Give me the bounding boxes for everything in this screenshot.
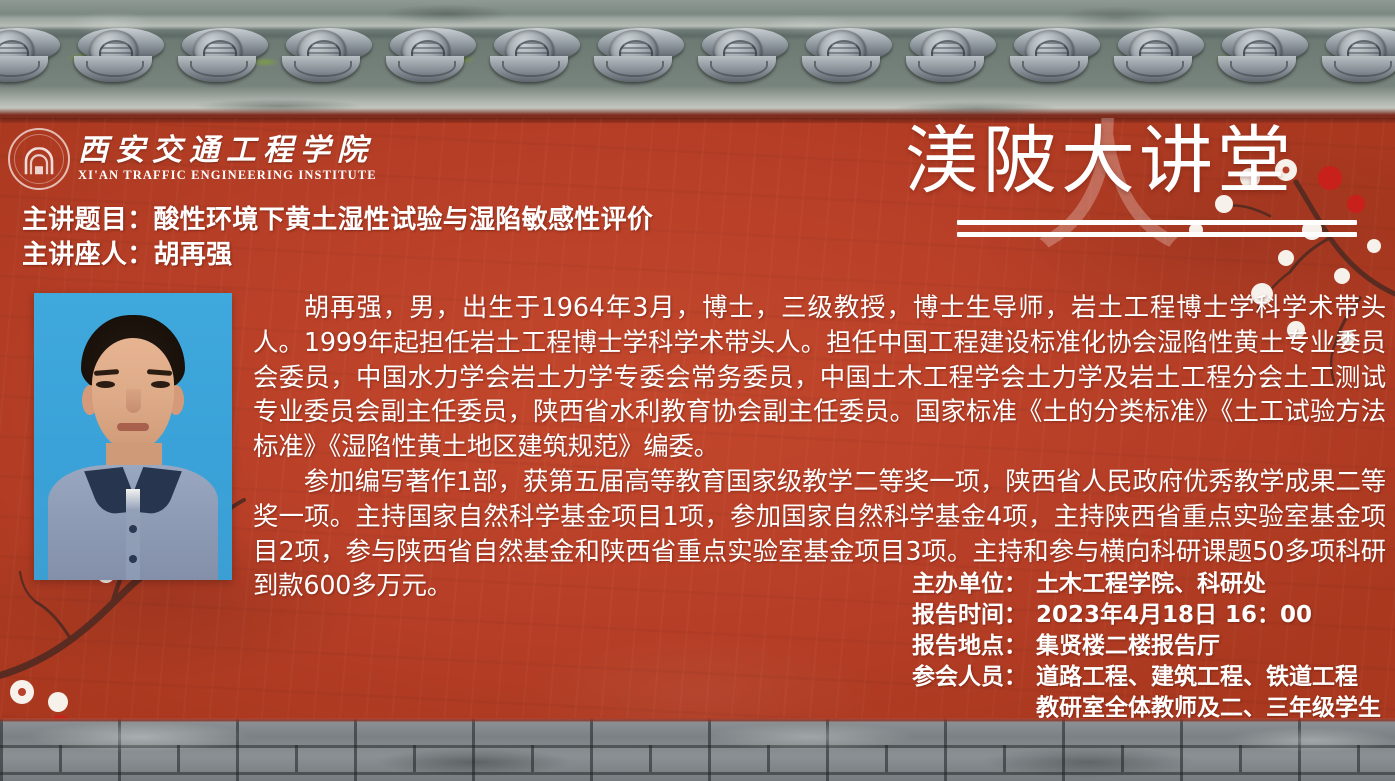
roof-tile: [594, 28, 698, 90]
institute-logo: 西安交通工程学院 XI'AN TRAFFIC ENGINEERING INSTI…: [8, 128, 377, 190]
roof-tile: [282, 28, 386, 90]
roof-tile: [1322, 28, 1395, 90]
event-row-time: 报告时间： 2023年4月18日 16：00: [912, 600, 1381, 631]
roof-tile: [0, 28, 74, 90]
drip-tile-icon: [1218, 56, 1296, 82]
event-attendees-continuation: 教研室全体教师及二、三年级学生: [912, 693, 1381, 718]
portrait-placket: [126, 489, 140, 580]
event-label-time: 报告时间：: [912, 600, 1036, 631]
drip-tile-icon: [282, 56, 360, 82]
emblem-arch-icon: [22, 147, 56, 175]
event-value-organizer: 土木工程学院、科研处: [1036, 569, 1266, 600]
roof-tile: [386, 28, 490, 90]
drip-tile-icon: [698, 56, 776, 82]
drip-tile-icon: [906, 56, 984, 82]
speaker-portrait: [34, 293, 232, 580]
event-row-organizer: 主办单位： 土木工程学院、科研处: [912, 569, 1381, 600]
roof-tile: [802, 28, 906, 90]
institute-name-block: 西安交通工程学院 XI'AN TRAFFIC ENGINEERING INSTI…: [78, 135, 377, 184]
event-row-location: 报告地点： 集贤楼二楼报告厅: [912, 631, 1381, 662]
lecture-speaker: 主讲座人：胡再强: [22, 238, 653, 273]
event-label-organizer: 主办单位：: [912, 569, 1036, 600]
bio-paragraph-1: 胡再强，男，出生于1964年3月，博士，三级教授，博士生导师，岩土工程博士学科学…: [253, 290, 1386, 464]
drip-tile-icon: [490, 56, 568, 82]
roof-tile: [698, 28, 802, 90]
roof-tile: [74, 28, 178, 90]
event-value-attendees: 道路工程、建筑工程、铁道工程: [1036, 662, 1358, 693]
speaker-bio: 胡再强，男，出生于1964年3月，博士，三级教授，博士生导师，岩土工程博士学科学…: [253, 290, 1386, 603]
event-info-block: 主办单位： 土木工程学院、科研处 报告时间： 2023年4月18日 16：00 …: [912, 569, 1381, 718]
lecture-heading-block: 主讲题目：酸性环境下黄土湿性试验与湿陷敏感性评价 主讲座人：胡再强: [22, 203, 653, 273]
event-value-location: 集贤楼二楼报告厅: [1036, 631, 1220, 662]
event-label-location: 报告地点：: [912, 631, 1036, 662]
roof-tile: [490, 28, 594, 90]
roof-tile: [1114, 28, 1218, 90]
institute-name-en: XI'AN TRAFFIC ENGINEERING INSTITUTE: [78, 168, 377, 183]
portrait-eye-right: [151, 381, 170, 388]
roof-tile: [1218, 28, 1322, 90]
masthead-rule-2: [957, 232, 1357, 237]
lecture-poster: 西安交通工程学院 XI'AN TRAFFIC ENGINEERING INSTI…: [0, 0, 1395, 781]
roof-tile: [178, 28, 282, 90]
portrait-button: [129, 525, 137, 533]
roof-tile: [1010, 28, 1114, 90]
drip-tile-icon: [178, 56, 256, 82]
drip-tile-icon: [802, 56, 880, 82]
drip-tile-icon: [0, 56, 48, 82]
roof-tile: [906, 28, 1010, 90]
lecture-topic: 主讲题目：酸性环境下黄土湿性试验与湿陷敏感性评价: [22, 203, 653, 238]
roof-tile-row: [0, 28, 1395, 90]
masthead-rules: [957, 220, 1357, 244]
event-label-attendees: 参会人员：: [912, 662, 1036, 693]
institute-emblem-icon: [8, 128, 70, 190]
brick-wall-band: [0, 718, 1395, 781]
masthead-rule-1: [957, 220, 1357, 225]
drip-tile-icon: [594, 56, 672, 82]
drip-tile-icon: [1010, 56, 1088, 82]
brick-texture: [0, 718, 1395, 781]
portrait-eye-left: [96, 381, 115, 388]
drip-tile-icon: [1322, 56, 1395, 82]
lecture-hall-title: 渼陂大讲堂: [905, 124, 1295, 198]
portrait-mouth: [117, 423, 149, 431]
event-row-attendees: 参会人员： 道路工程、建筑工程、铁道工程: [912, 662, 1381, 693]
roof-tile-band: [0, 0, 1395, 118]
portrait-button: [129, 555, 137, 563]
event-value-time: 2023年4月18日 16：00: [1036, 600, 1312, 631]
lecture-hall-masthead: 人 渼陂大讲堂: [905, 122, 1365, 247]
drip-tile-icon: [74, 56, 152, 82]
drip-tile-icon: [1114, 56, 1192, 82]
red-wall-background: 西安交通工程学院 XI'AN TRAFFIC ENGINEERING INSTI…: [0, 118, 1395, 718]
drip-tile-icon: [386, 56, 464, 82]
brick-top-red-edge: [0, 718, 1395, 722]
portrait-nose: [126, 389, 141, 413]
institute-name-cn: 西安交通工程学院: [78, 135, 377, 167]
